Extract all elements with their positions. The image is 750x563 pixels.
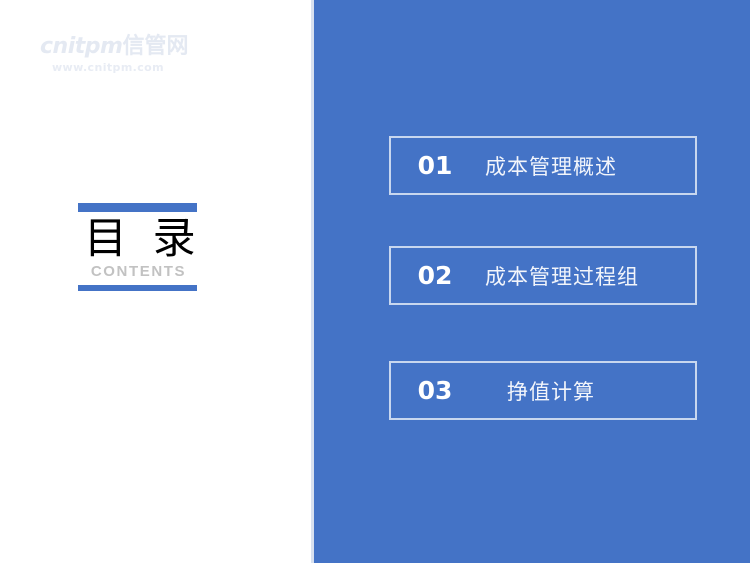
toc-item-number: 01 [391, 151, 479, 180]
contents-title-block: 目 录 CONTENTS [78, 203, 197, 291]
page-title-subtitle: CONTENTS [78, 262, 197, 285]
watermark-brand-cn: 信管网 [122, 34, 188, 59]
toc-item-label: 成本管理过程组 [479, 261, 695, 291]
toc-item-03[interactable]: 03 挣值计算 [389, 361, 697, 420]
watermark-brand-latin: cnitpm [40, 34, 122, 59]
toc-item-number: 03 [391, 376, 479, 405]
title-top-rule [78, 203, 197, 212]
presentation-slide: cnitpm信管网 www.cnitpm.com 目 录 CONTENTS 01… [0, 0, 750, 563]
panel-left-edge-stripe [311, 0, 314, 563]
page-title: 目 录 [78, 212, 197, 262]
toc-item-01[interactable]: 01 成本管理概述 [389, 136, 697, 195]
toc-item-label: 挣值计算 [479, 376, 695, 406]
title-bottom-rule [78, 285, 197, 291]
watermark-logo: cnitpm信管网 www.cnitpm.com [40, 36, 240, 80]
watermark-brand: cnitpm信管网 [40, 36, 240, 58]
toc-item-02[interactable]: 02 成本管理过程组 [389, 246, 697, 305]
toc-item-label: 成本管理概述 [479, 151, 695, 181]
toc-item-number: 02 [391, 261, 479, 290]
watermark-url: www.cnitpm.com [52, 62, 240, 73]
